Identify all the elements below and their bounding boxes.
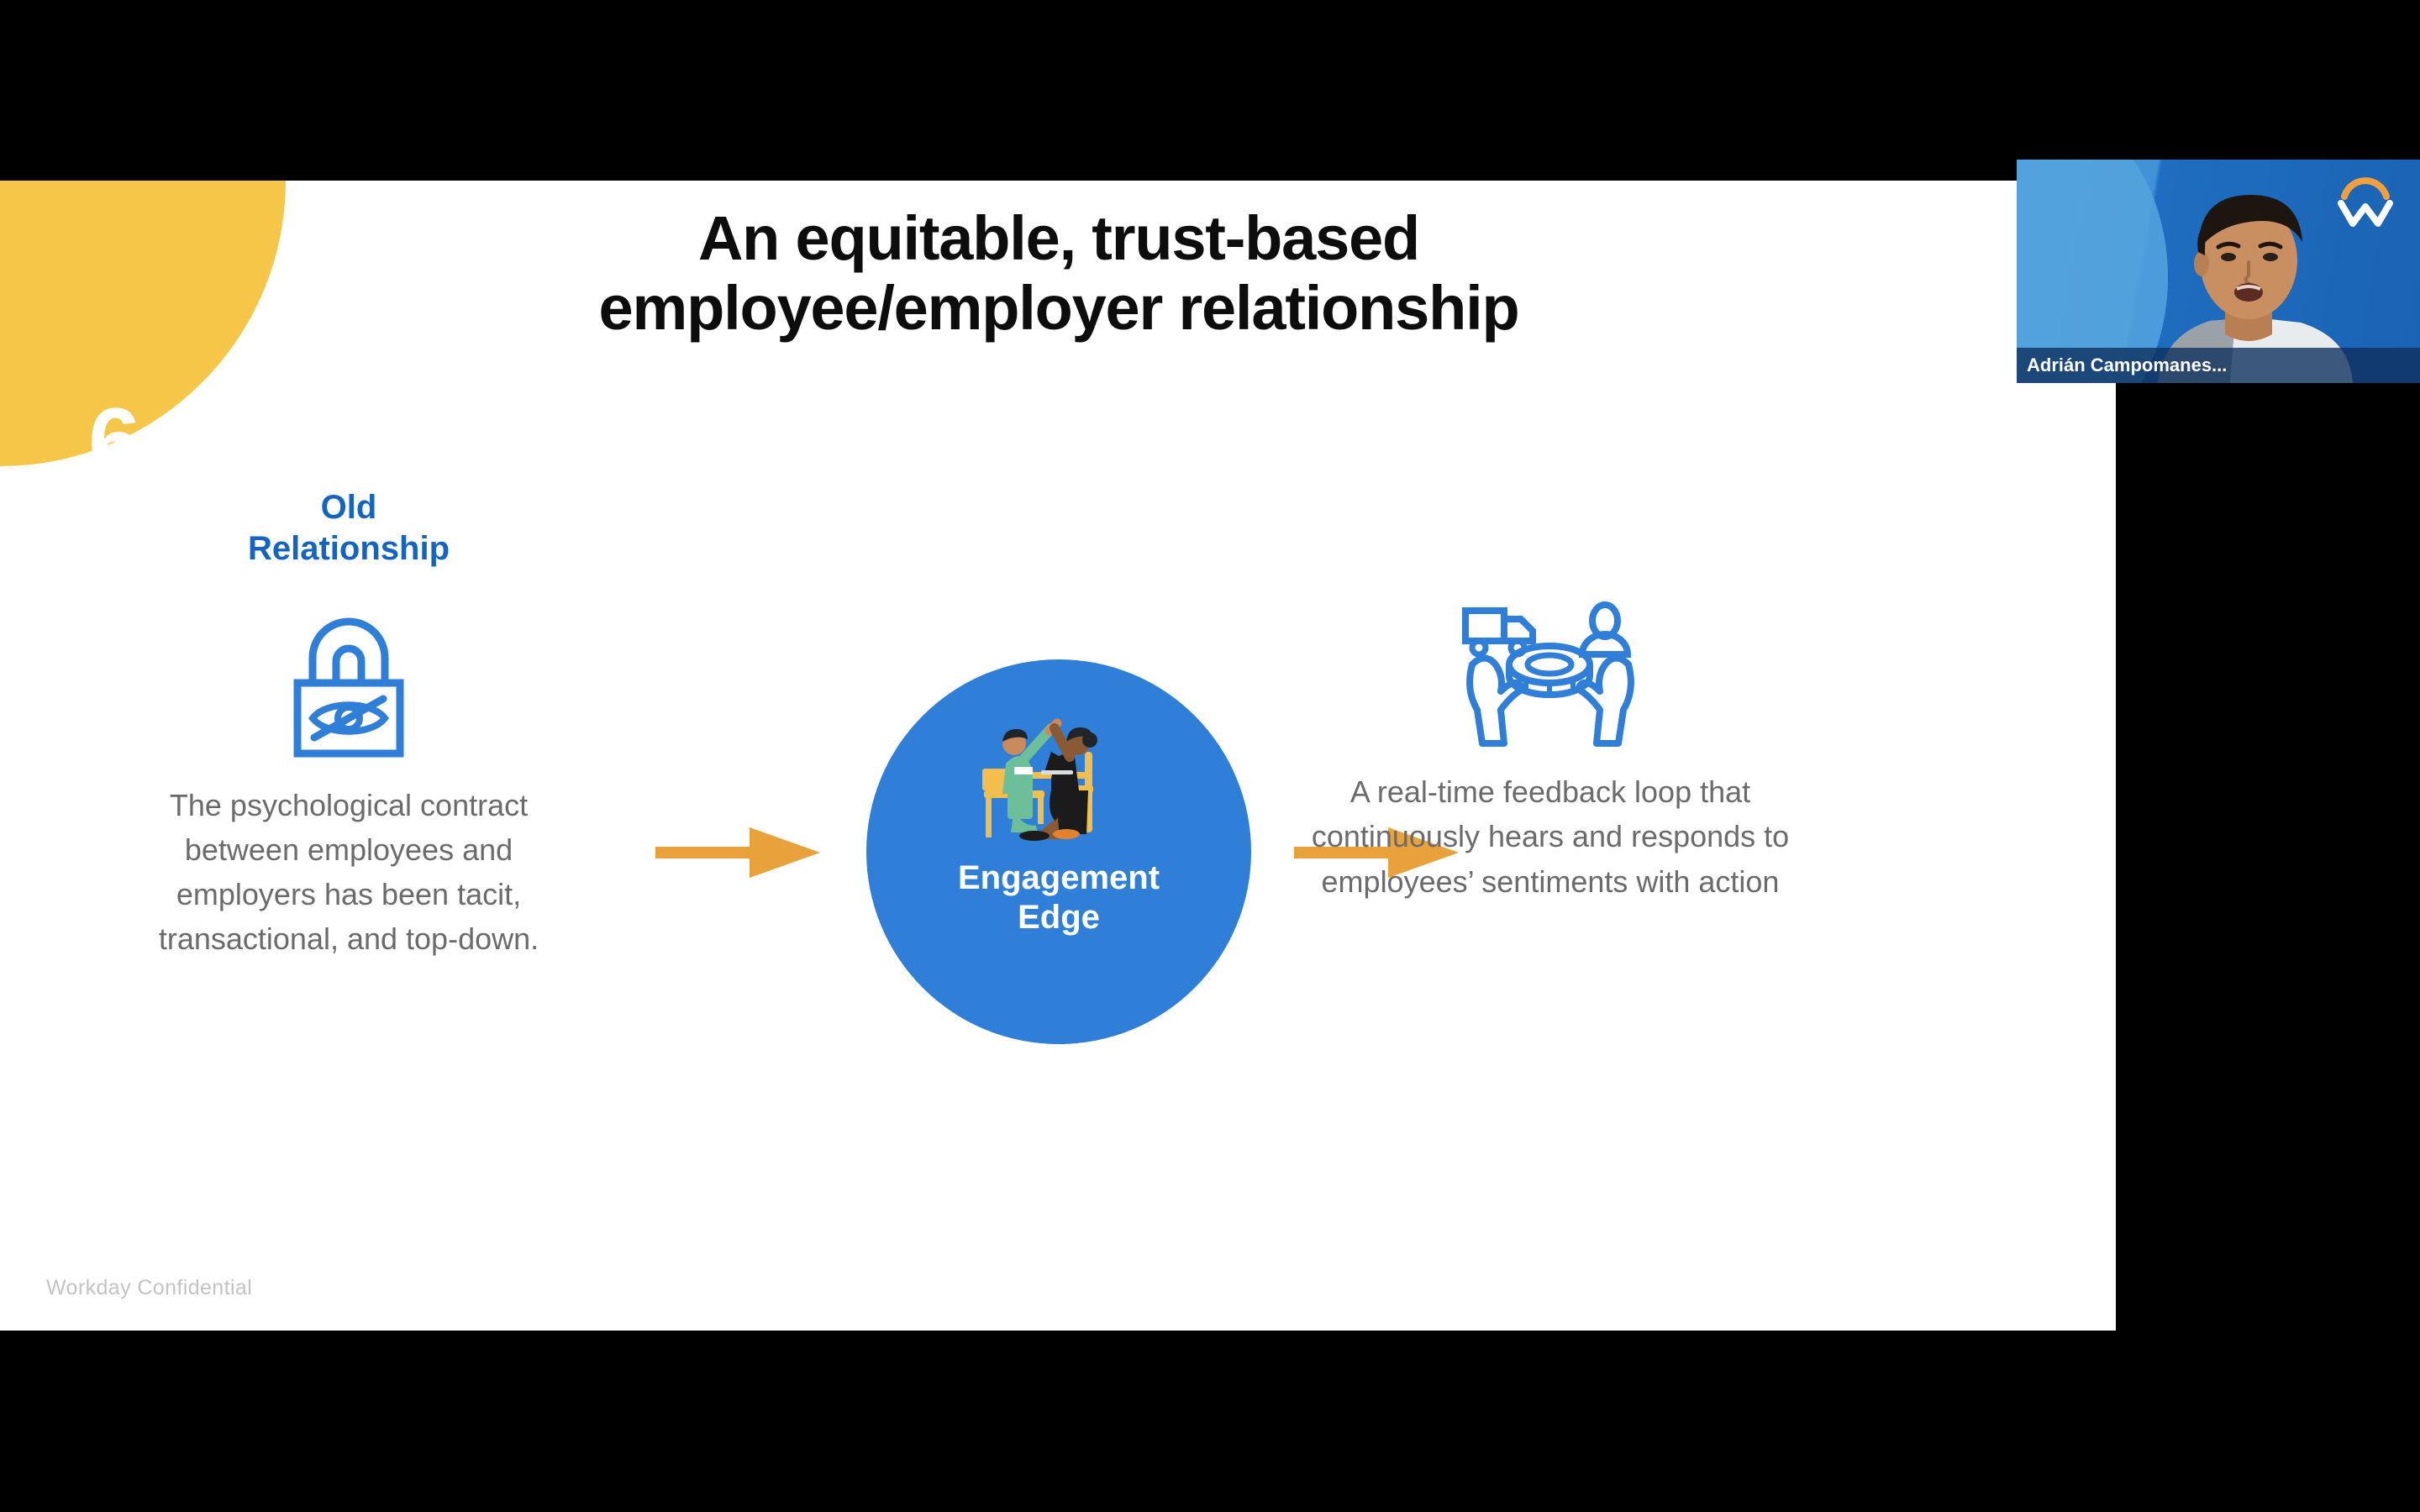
old-relationship-column: Old Relationship The psy — [118, 487, 580, 962]
new-relationship-body: A real-time feedback loop that continuou… — [1298, 769, 1802, 904]
slide-number: 6 — [88, 395, 139, 489]
presentation-slide[interactable]: 6 An equitable, trust-based employee/emp… — [0, 181, 2116, 1331]
slide-footer: Workday Confidential — [46, 1276, 252, 1300]
engagement-edge-circle[interactable]: Engagement Edge — [866, 659, 1251, 1044]
participant-name: Adrián Campomanes... — [2017, 354, 2227, 376]
old-relationship-heading-line-2: Relationship — [118, 528, 580, 570]
engagement-edge-label-line-1: Engagement — [958, 858, 1160, 898]
old-relationship-body: The psychological contract between emplo… — [118, 783, 580, 962]
new-relationship-column: A real-time feedback loop that continuou… — [1298, 487, 1802, 904]
slide-number-blob — [0, 181, 286, 466]
slide-title-line-2: employee/employer relationship — [286, 274, 1832, 344]
workday-w-logo — [2333, 171, 2398, 227]
screen: 6 An equitable, trust-based employee/emp… — [0, 0, 2420, 1512]
engagement-edge-label: Engagement Edge — [958, 858, 1160, 937]
padlock-eye-off-icon — [286, 617, 412, 759]
engagement-edge-label-line-2: Edge — [958, 898, 1160, 937]
video-participant-tile[interactable]: Adrián Campomanes... — [2017, 160, 2420, 383]
slide-title-line-1: An equitable, trust-based — [286, 204, 1832, 274]
hands-holding-coin-icon-wrap — [1298, 595, 1802, 754]
padlock-eye-off-icon-wrap — [118, 608, 580, 768]
arrow-old-to-center — [655, 819, 820, 890]
participant-name-bar: Adrián Campomanes... — [2017, 348, 2420, 383]
old-relationship-heading: Old Relationship — [118, 487, 580, 570]
right-column-heading-spacer — [1298, 487, 1802, 595]
two-people-high-five-desk-illustration — [971, 708, 1147, 847]
hands-holding-coin-icon — [1454, 599, 1647, 750]
old-relationship-heading-line-1: Old — [118, 487, 580, 528]
page-title: An equitable, trust-based employee/emplo… — [286, 204, 1832, 344]
